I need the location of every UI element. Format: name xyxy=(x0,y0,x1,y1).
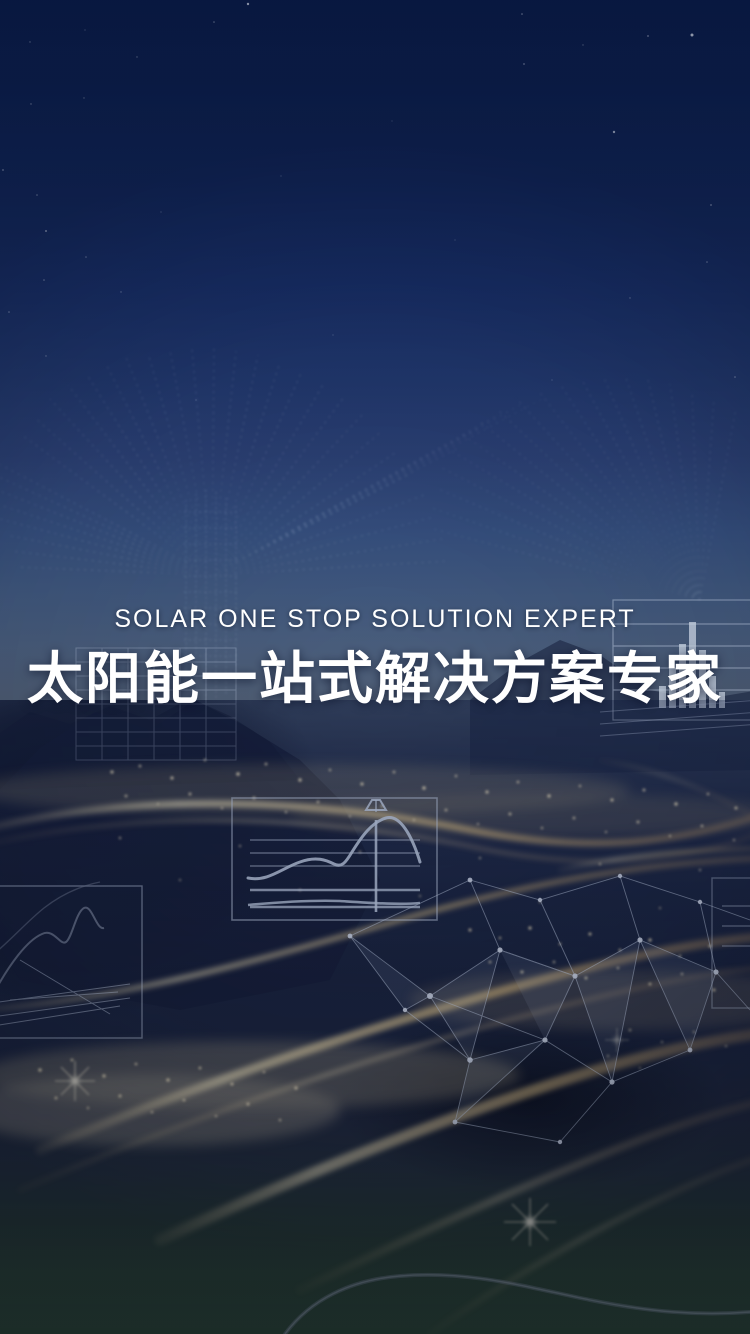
scene-tint xyxy=(0,700,750,1334)
hero-copy: SOLAR ONE STOP SOLUTION EXPERT 太阳能一站式解决方… xyxy=(0,604,750,712)
hero-headline: 太阳能一站式解决方案专家 xyxy=(0,646,750,712)
hero-eyebrow: SOLAR ONE STOP SOLUTION EXPERT xyxy=(0,604,750,634)
banner-hero: SOLAR ONE STOP SOLUTION EXPERT 太阳能一站式解决方… xyxy=(0,0,750,1334)
